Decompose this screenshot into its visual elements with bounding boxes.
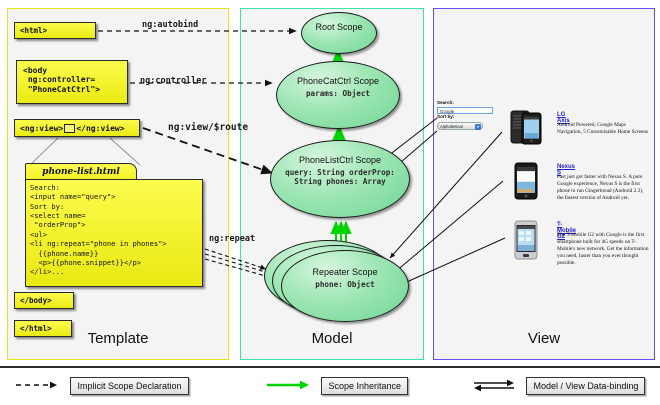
diagram-canvas: <html> <body ng:controller= "PhoneCatCtr… <box>0 0 660 405</box>
wire-label-autobind: ng:autobind <box>142 20 198 30</box>
legend-divider <box>0 366 660 368</box>
column-label-model: Model <box>240 330 424 347</box>
legend-item-scope-inheritance: Scope Inheritance <box>265 376 408 394</box>
green-arrow-icon <box>265 379 311 391</box>
column-label-view: View <box>433 330 655 347</box>
ngview-open-tag: <ng:view> <box>20 124 63 133</box>
scope-repeater: Repeater Scope phone: Object <box>281 250 409 322</box>
legend-item-implicit-scope: Implicit Scope Declaration <box>14 376 189 394</box>
phone-snippet-nexus-s: Fast just got faster with Nexus S. A pur… <box>557 174 651 202</box>
phone-image-t-mobile-g2 <box>513 220 539 262</box>
code-html-open: <html> <box>14 22 96 39</box>
ngview-slot-icon <box>64 124 75 133</box>
phone-image-nexus-s <box>513 162 539 202</box>
phone-snippet-t-mobile-g2: The T-Mobile G2 with Google is the first… <box>557 232 651 267</box>
phone-image-lg-axis <box>510 110 542 150</box>
legend-label-data-binding: Model / View Data-binding <box>526 377 645 395</box>
wire-label-controller: ng:controller <box>140 76 207 86</box>
scope-phonelistctrl-label: PhoneListCtrl Scope <box>271 155 409 165</box>
scope-root: Root Scope <box>301 12 377 54</box>
legend: Implicit Scope Declaration Scope Inherit… <box>0 366 660 405</box>
phone-snippet-lg-axis: Android Powered, Google Maps Navigation,… <box>557 122 651 136</box>
double-arrow-icon <box>470 378 516 392</box>
note-phone-list-html: phone-list.html Search: <input name="que… <box>25 163 203 288</box>
dashed-arrow-icon <box>14 379 60 391</box>
legend-label-scope-inheritance: Scope Inheritance <box>321 377 408 395</box>
sort-select-value: Alphabetical <box>440 124 463 129</box>
column-label-template: Template <box>7 330 229 347</box>
scope-repeater-label: Repeater Scope <box>282 267 408 277</box>
ngview-close-tag: </ng:view> <box>76 124 124 133</box>
scope-phonecatctrl-props: params: Object <box>277 89 399 98</box>
scope-phonelistctrl: PhoneListCtrl Scope query: String orderP… <box>270 140 410 218</box>
code-body-close: </body> <box>14 292 74 309</box>
chevron-down-icon: ▾ <box>475 124 481 130</box>
note-title: phone-list.html <box>25 163 137 180</box>
legend-item-data-binding: Model / View Data-binding <box>470 376 645 394</box>
search-label: Search: <box>437 100 497 107</box>
wire-label-repeat: ng:repeat <box>209 234 255 244</box>
sort-label: Sort by: <box>437 114 497 121</box>
scope-root-label: Root Scope <box>302 22 376 32</box>
wire-label-ngview-route: ng:view/$route <box>168 122 248 133</box>
code-ngview: <ng:view></ng:view> <box>14 119 140 137</box>
code-body-open: <body ng:controller= "PhoneCatCtrl"> <box>16 60 128 104</box>
scope-phonelistctrl-props: query: String orderProp: String phones: … <box>271 168 409 186</box>
view-search-form: Search: Google Sort by: Alphabetical ▾ <box>437 100 497 130</box>
legend-label-implicit-scope: Implicit Scope Declaration <box>70 377 188 395</box>
scope-repeater-props: phone: Object <box>282 280 408 289</box>
scope-phonecatctrl-label: PhoneCatCtrl Scope <box>277 76 399 86</box>
search-input[interactable]: Google <box>437 107 493 114</box>
note-code: Search: <input name="query"> Sort by: <s… <box>25 179 203 287</box>
scope-phonecatctrl: PhoneCatCtrl Scope params: Object <box>276 61 400 129</box>
sort-select[interactable]: Alphabetical ▾ <box>437 122 483 130</box>
